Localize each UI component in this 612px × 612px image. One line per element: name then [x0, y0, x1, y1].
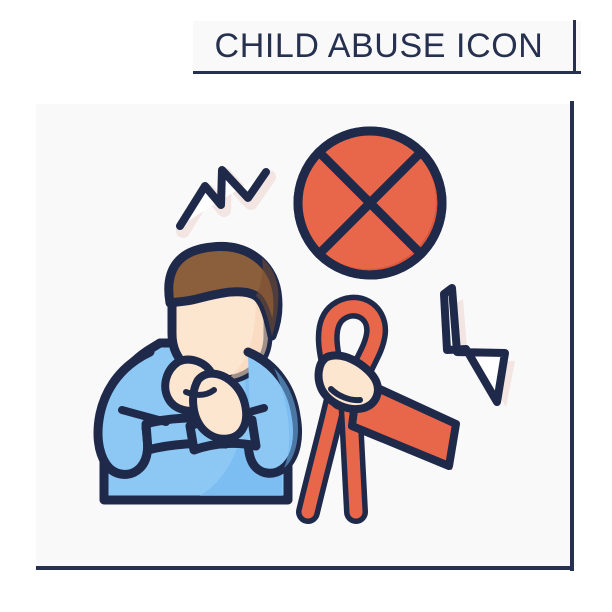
prohibition-circle-icon [298, 131, 442, 275]
child-abuse-illustration [0, 0, 612, 612]
lightning-bolt-icon [444, 288, 515, 407]
child-figure-icon [98, 246, 298, 500]
awareness-ribbon-icon [308, 307, 459, 512]
anger-zigzag-icon [180, 170, 269, 231]
